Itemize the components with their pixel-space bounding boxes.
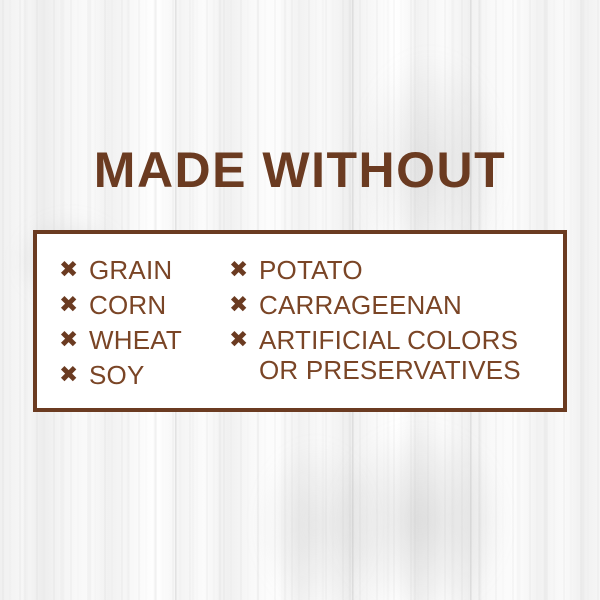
ingredient-column-right: ✖ POTATO ✖ CARRAGEENAN ✖ ARTIFICIAL COLO… [229, 255, 559, 390]
cross-mark-icon: ✖ [59, 360, 89, 390]
excluded-ingredients-columns: ✖ GRAIN ✖ CORN ✖ WHEAT ✖ SOY [37, 234, 563, 408]
ingredient-label: CARRAGEENAN [259, 290, 559, 320]
cross-mark-icon: ✖ [229, 325, 259, 355]
cross-mark-icon: ✖ [59, 290, 89, 320]
cross-mark-icon: ✖ [229, 290, 259, 320]
list-item: ✖ CORN [59, 290, 239, 320]
list-item: ✖ SOY [59, 360, 239, 390]
ingredient-label: POTATO [259, 255, 559, 285]
ingredient-label: SOY [89, 360, 239, 390]
ingredient-label: CORN [89, 290, 239, 320]
list-item: ✖ POTATO [229, 255, 559, 285]
list-item: ✖ ARTIFICIAL COLORS OR PRESERVATIVES [229, 325, 559, 385]
cross-mark-icon: ✖ [229, 255, 259, 285]
ingredient-label: ARTIFICIAL COLORS OR PRESERVATIVES [259, 325, 559, 385]
made-without-poster: MADE WITHOUT ✖ GRAIN ✖ CORN ✖ WHEAT ✖ [0, 0, 600, 600]
list-item: ✖ CARRAGEENAN [229, 290, 559, 320]
cross-mark-icon: ✖ [59, 255, 89, 285]
ingredient-label: WHEAT [89, 325, 239, 355]
ingredient-label: GRAIN [89, 255, 239, 285]
cross-mark-icon: ✖ [59, 325, 89, 355]
ingredient-column-left: ✖ GRAIN ✖ CORN ✖ WHEAT ✖ SOY [59, 255, 239, 395]
list-item: ✖ WHEAT [59, 325, 239, 355]
wood-knot-lower-mid [255, 440, 375, 600]
excluded-ingredients-box: ✖ GRAIN ✖ CORN ✖ WHEAT ✖ SOY [33, 230, 567, 412]
page-title: MADE WITHOUT [0, 145, 600, 195]
list-item: ✖ GRAIN [59, 255, 239, 285]
